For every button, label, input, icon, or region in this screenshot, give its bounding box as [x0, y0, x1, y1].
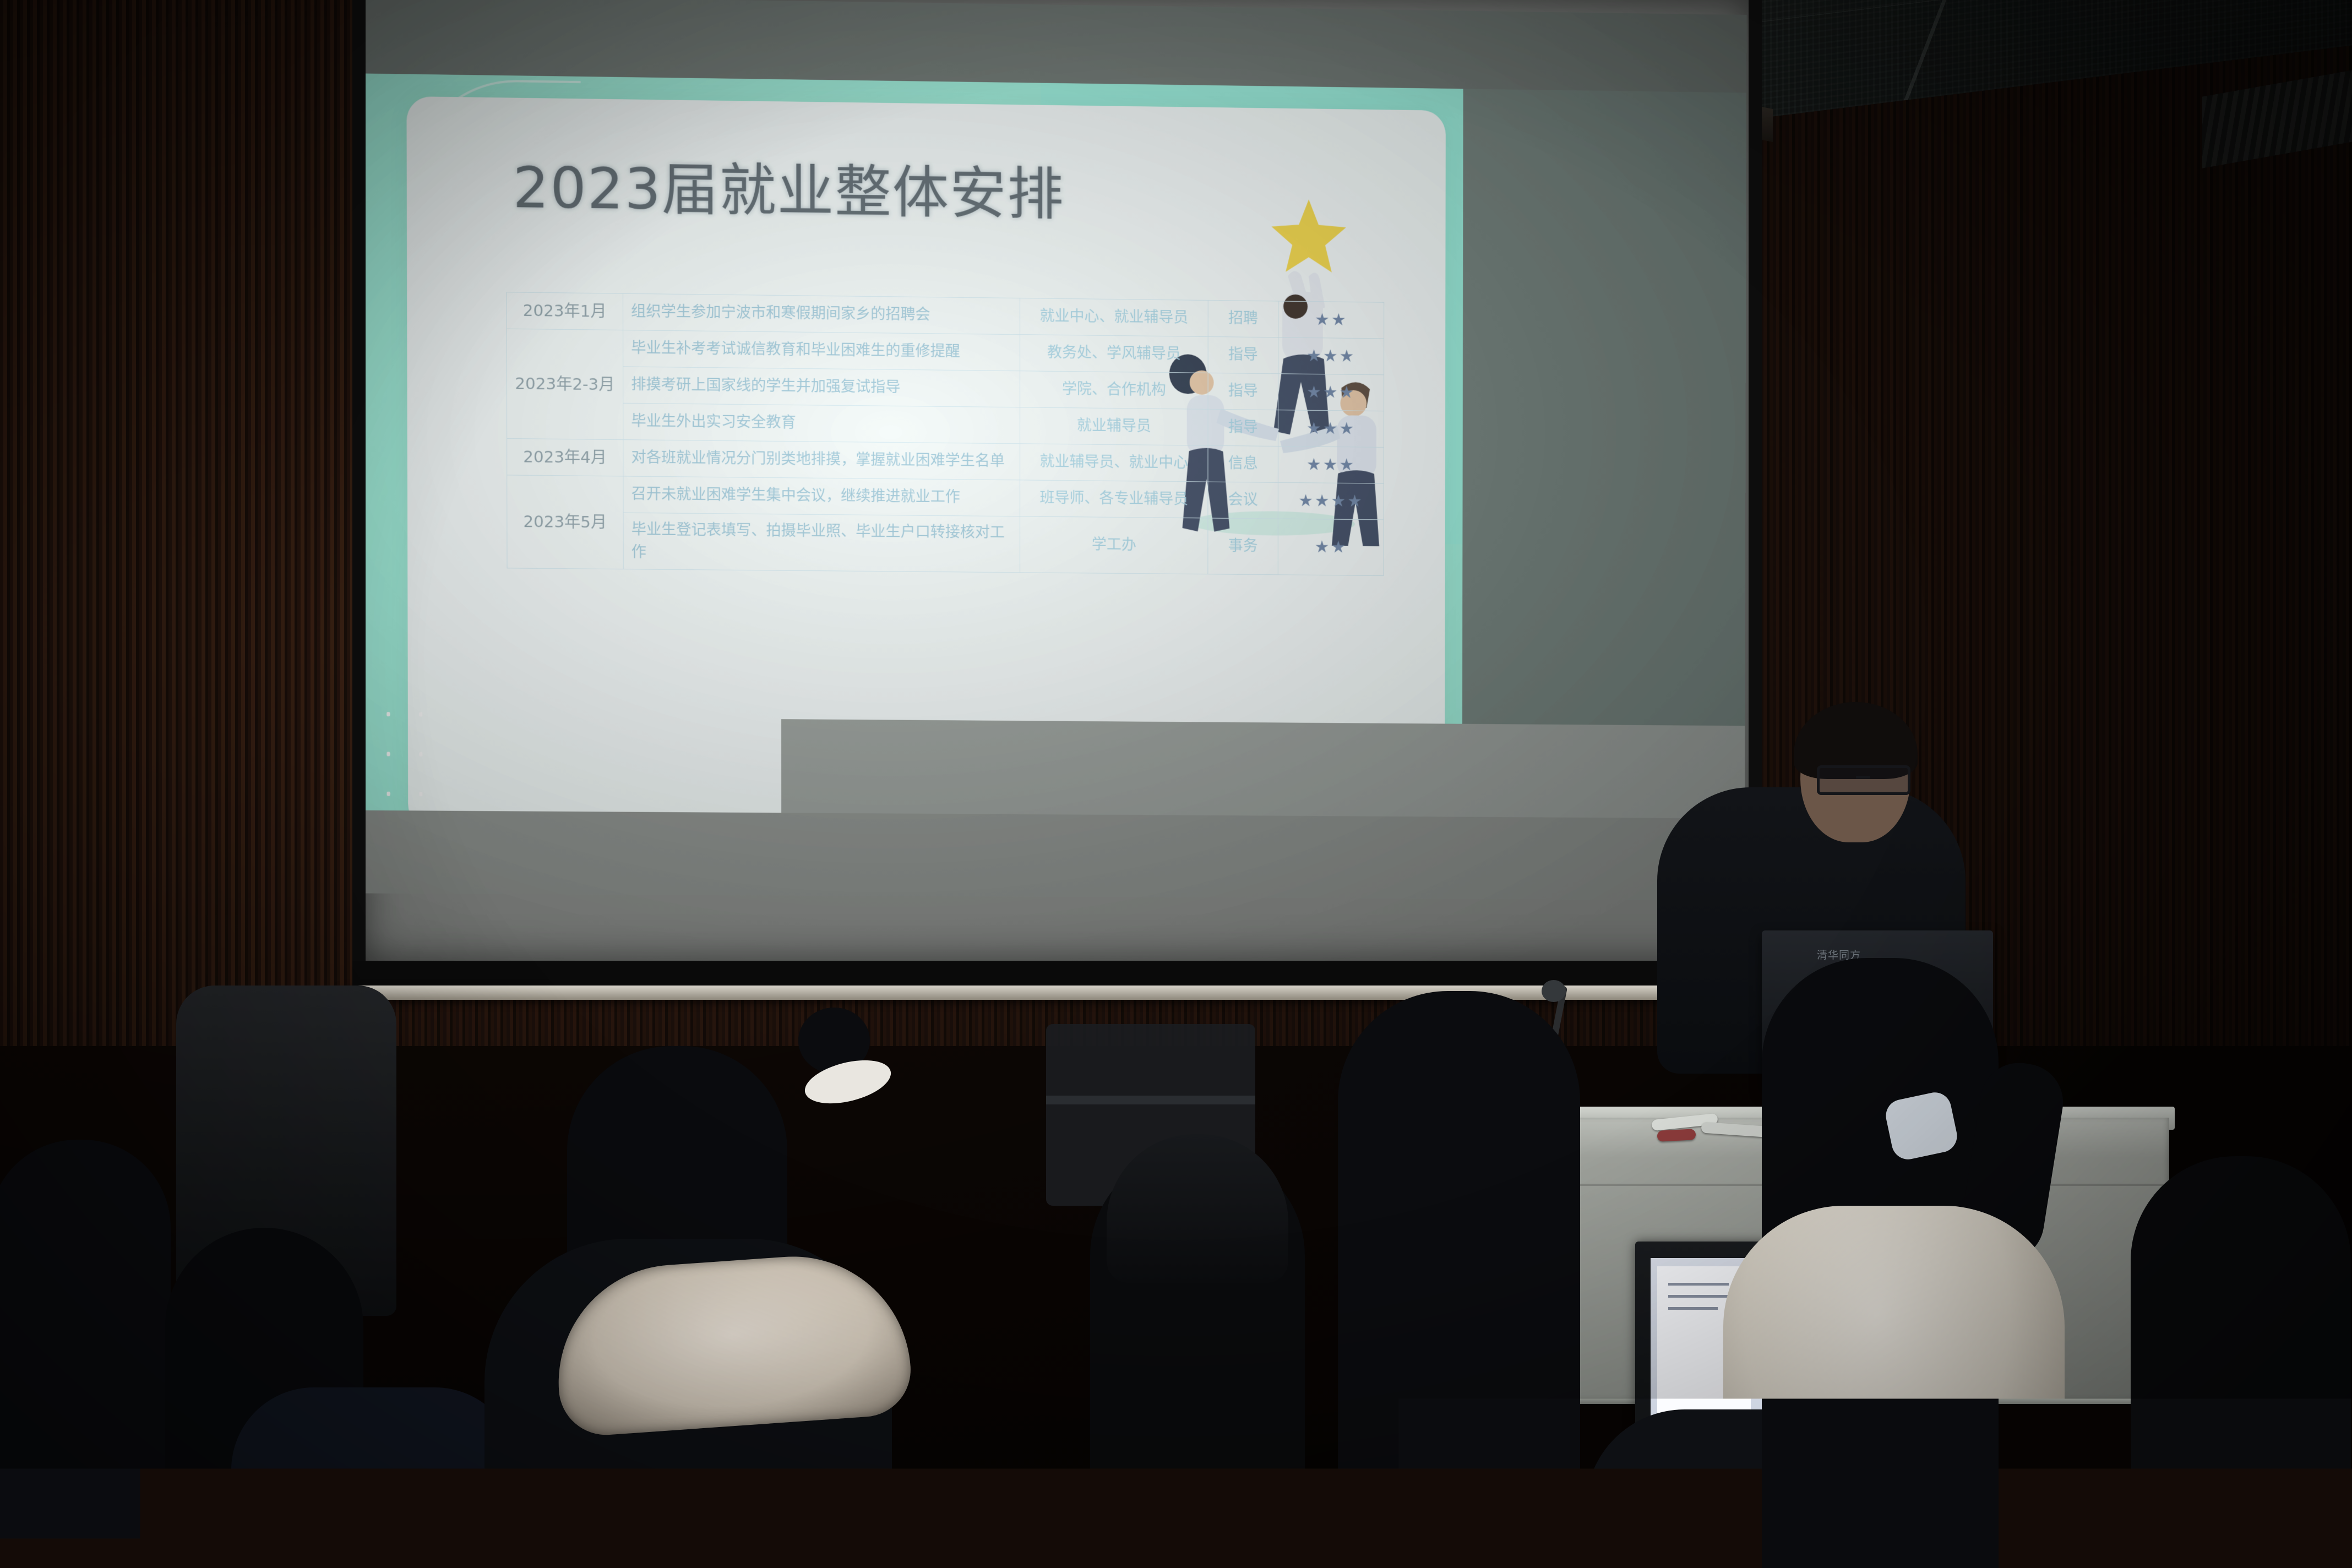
cell-priority-stars: ★★★ — [1278, 447, 1384, 484]
cell-type: 事务 — [1208, 518, 1278, 575]
cell-month: 2023年4月 — [507, 439, 623, 476]
presentation-slide: 2023届就业整体安排 — [363, 0, 1746, 900]
lecture-hall-scene: 2023届就业整体安排 — [0, 0, 2352, 1568]
audience-person — [2131, 1156, 2351, 1568]
projection-dark-band-bottom — [363, 810, 1745, 900]
cell-owner: 教务处、学风辅导员 — [1020, 335, 1208, 373]
cell-task: 组织学生参加宁波市和寒假期间家乡的招聘会 — [623, 293, 1020, 334]
cell-task: 毕业生外出实习安全教育 — [623, 403, 1020, 444]
cell-owner: 学院、合作机构 — [1020, 371, 1208, 410]
cell-owner: 就业中心、就业辅导员 — [1020, 298, 1208, 337]
table-row: 毕业生登记表填写、拍摄毕业照、毕业生户口转接核对工作 学工办 事务 ★★ — [507, 511, 1384, 575]
audience-person — [231, 1387, 518, 1568]
cell-owner: 就业辅导员 — [1020, 407, 1208, 445]
projection-screen: 2023届就业整体安排 — [363, 0, 1751, 961]
cell-priority-stars: ★★★ — [1278, 374, 1384, 411]
microphone-head-icon — [1542, 980, 1566, 1002]
cell-priority-stars: ★★★ — [1278, 410, 1384, 448]
schedule-table-body: 2023年1月 组织学生参加宁波市和寒假期间家乡的招聘会 就业中心、就业辅导员 … — [507, 292, 1384, 576]
cell-priority-stars: ★★★★ — [1278, 482, 1384, 520]
cell-month: 2023年1月 — [507, 292, 623, 330]
cell-type: 招聘 — [1208, 300, 1278, 337]
cell-task: 毕业生补考考试诚信教育和毕业困难生的重修提醒 — [623, 330, 1020, 371]
laptop-doc-line — [1668, 1307, 1718, 1310]
eyeglasses-icon — [1817, 765, 1910, 795]
cell-owner: 就业辅导员、就业中心 — [1020, 444, 1208, 482]
audience-person — [1338, 991, 1580, 1568]
cell-priority-stars: ★★ — [1278, 519, 1384, 575]
cell-task: 召开未就业困难学生集中会议，继续推进就业工作 — [623, 476, 1020, 516]
audience-person — [0, 1140, 171, 1568]
slide-keystone-wrap: 2023届就业整体安排 — [363, 0, 1746, 961]
red-marker — [1657, 1129, 1696, 1142]
cell-owner: 班导师、各专业辅导员 — [1020, 480, 1208, 518]
cell-type: 信息 — [1208, 445, 1278, 482]
cell-task: 排摸考研上国家线的学生并加强复试指导 — [623, 367, 1020, 407]
cell-priority-stars: ★★★ — [1278, 337, 1384, 375]
schedule-table: 2023年1月 组织学生参加宁波市和寒假期间家乡的招聘会 就业中心、就业辅导员 … — [507, 292, 1385, 576]
slide-title: 2023届就业整体安排 — [513, 142, 1064, 231]
laptop-doc-line — [1668, 1283, 1729, 1286]
cell-task: 毕业生登记表填写、拍摄毕业照、毕业生户口转接核对工作 — [623, 513, 1020, 573]
cell-type: 指导 — [1208, 373, 1278, 410]
cell-type: 指导 — [1208, 336, 1278, 373]
cell-owner: 学工办 — [1020, 516, 1208, 574]
cell-type: 指导 — [1208, 409, 1278, 446]
cell-task: 对各班就业情况分门别类地排摸，掌握就业困难学生名单 — [623, 440, 1020, 480]
cell-priority-stars: ★★ — [1278, 301, 1384, 339]
cell-month: 2023年5月 — [507, 475, 623, 569]
folding-chair-bar — [1046, 1096, 1255, 1104]
white-fleece-coat — [1723, 1206, 2065, 1568]
cell-type: 会议 — [1208, 482, 1278, 519]
cell-month: 2023年2-3月 — [507, 329, 623, 439]
